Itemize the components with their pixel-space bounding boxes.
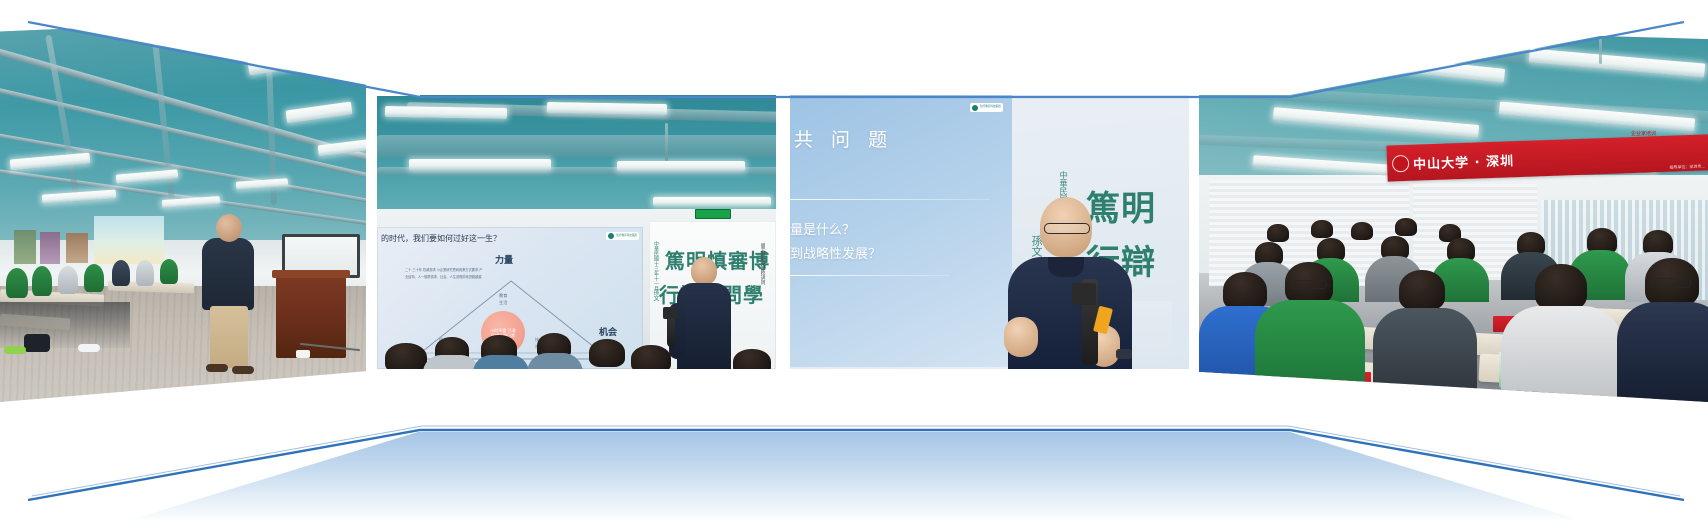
wall-poster — [14, 230, 36, 264]
banner-stage: 的时代，我们要如何过好这一生？ 知行教育科技集团 力量 二十 三十年 权威需求 … — [0, 0, 1708, 523]
audience-head — [1351, 222, 1373, 240]
seated-attendee — [136, 260, 154, 286]
banner-subtext: 指导单位：深圳市… — [1669, 164, 1705, 171]
speaker-torso — [677, 283, 731, 369]
audience-head-front — [1223, 272, 1267, 310]
slide-heading-right: 机会 — [599, 325, 617, 338]
instructor-shoe — [206, 364, 228, 372]
instructor-head — [216, 214, 242, 242]
slide-node-center2: 生活 — [499, 300, 507, 306]
microphone-flag — [1072, 283, 1096, 305]
audience-body-front — [1501, 306, 1623, 402]
audience-head-front — [1399, 270, 1445, 310]
wall-poster — [66, 233, 88, 263]
seated-attendee — [32, 266, 52, 296]
calligraphy-side-right: 國立南東大學校訓詞 — [759, 243, 765, 297]
photo-audience[interactable]: 中山大学 · 深圳 指导单位：深圳市… 企业家培训 — [1199, 24, 1708, 402]
slide-divider — [790, 275, 950, 276]
audience-head — [1395, 218, 1417, 236]
logo-mark-icon — [608, 233, 614, 239]
audience-head — [385, 343, 427, 369]
slide-logo-text: 知行教育科技集团 — [616, 235, 637, 238]
seated-attendee — [112, 260, 130, 286]
ceiling-light — [653, 197, 771, 206]
green-shoe — [4, 346, 26, 354]
audience-head — [1311, 220, 1333, 238]
slide-divider — [790, 199, 990, 200]
speaker-hand-left — [1004, 317, 1038, 357]
ceiling-light — [617, 161, 745, 171]
wall-mural — [94, 216, 164, 264]
ceiling-hanger — [1599, 38, 1602, 64]
seated-attendee — [58, 266, 78, 294]
ceiling-hanger — [1379, 42, 1382, 68]
wall-poster — [40, 232, 60, 264]
speaker-collar — [1048, 257, 1084, 277]
instructor-shoe — [232, 366, 254, 374]
slide-logo: 知行教育科技集团 — [606, 232, 639, 240]
audience-body — [473, 355, 529, 369]
photo4-content: 中山大学 · 深圳 指导单位：深圳市… 企业家培训 — [1199, 24, 1708, 402]
instructor-legs — [210, 306, 248, 368]
slide-logo: 知行教育科技集团 — [970, 103, 1003, 112]
speaker-watch — [1116, 349, 1132, 359]
slide-title: 共 问 题 — [794, 125, 893, 152]
slide-line2: 到战略性发展？ — [790, 243, 881, 262]
podium-top — [272, 270, 350, 278]
instructor-torso — [202, 238, 254, 310]
slide-logo-text: 知行教育科技集团 — [980, 106, 1001, 109]
bag-on-floor — [24, 334, 50, 352]
calligraphy-side-left-2: 孫文 — [651, 289, 660, 311]
seated-attendee — [6, 268, 28, 298]
audience-body — [423, 355, 479, 369]
calligraphy-line1: 篤明慎審博 — [665, 245, 770, 274]
slide-title: 的时代，我们要如何过好这一生？ — [381, 233, 501, 244]
chair-cluster — [0, 302, 130, 348]
eyeglasses-icon — [1651, 278, 1691, 288]
photo3-content: 知行教育科技集团 共 问 题 量是什么？ 到战略性发展？ 篤明 行辯 中華民國十… — [790, 93, 1189, 369]
exit-sign — [695, 209, 731, 219]
seated-attendee — [160, 259, 178, 284]
ceiling-duct — [377, 135, 776, 157]
ceiling-light — [547, 102, 667, 115]
banner-top-text: 企业家培训 — [1631, 130, 1703, 137]
slide-small-left-1: 二十 三十年 权威需求 小企業研究思和政策方式要求 产 — [405, 267, 482, 272]
photo-speaker-closeup[interactable]: 知行教育科技集团 共 问 题 量是什么？ 到战略性发展？ 篤明 行辯 中華民國十… — [790, 93, 1189, 369]
calligraphy-line1: 篤明 — [1086, 181, 1156, 230]
slide-heading-top: 力量 — [495, 253, 513, 266]
university-seal-icon — [1392, 154, 1410, 172]
logo-mark-icon — [972, 105, 978, 111]
slide-node-center: 教育 — [499, 293, 507, 299]
ceiling-light — [409, 159, 551, 170]
sneaker — [78, 344, 100, 352]
audience-head-front — [1535, 264, 1587, 310]
seated-attendee — [84, 264, 104, 292]
ceiling-light — [385, 106, 507, 119]
audience-head — [589, 339, 625, 367]
ceiling-hanger — [665, 123, 668, 161]
speaker-head — [691, 257, 717, 285]
photo-lecture-slide[interactable]: 的时代，我们要如何过好这一生？ 知行教育科技集团 力量 二十 三十年 权威需求 … — [377, 93, 776, 369]
audience-head — [631, 345, 671, 369]
audience-body-front — [1617, 302, 1708, 402]
slide-line1: 量是什么？ — [790, 219, 855, 238]
power-adapter — [296, 350, 310, 358]
banner-text: 中山大学 · 深圳 — [1413, 150, 1515, 173]
photo-classroom-wide[interactable] — [0, 16, 366, 402]
eyeglasses-icon — [1291, 280, 1327, 289]
speaker-glasses — [1044, 223, 1090, 234]
photo2-content: 的时代，我们要如何过好这一生？ 知行教育科技集团 力量 二十 三十年 权威需求 … — [377, 93, 776, 369]
microphone-flag — [663, 307, 677, 319]
photo1-content — [0, 16, 366, 402]
calligraphy-side-left-1: 中華民國十三年十一月 — [653, 241, 660, 285]
audience-head — [1267, 224, 1289, 242]
audience-head — [733, 349, 771, 369]
